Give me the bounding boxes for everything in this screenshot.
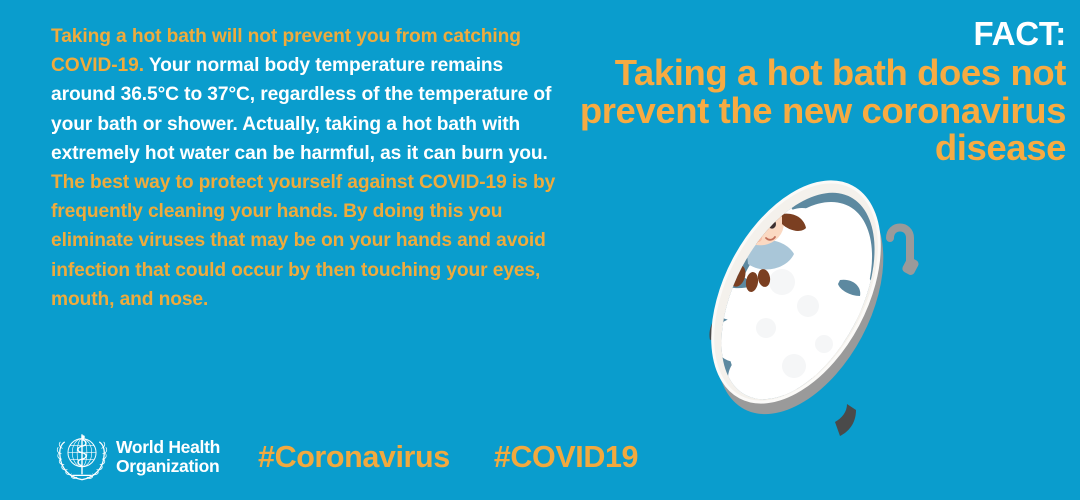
hashtag-covid19[interactable]: #COVID19 xyxy=(494,442,638,473)
girl-brow-left xyxy=(750,217,762,219)
body-paragraph-1: Taking a hot bath will not prevent you f… xyxy=(51,22,563,168)
who-emblem-icon xyxy=(55,430,109,484)
hashtag-group: #Coronavirus #COVID19 xyxy=(258,442,638,473)
footer-bar: World Health Organization #Coronavirus #… xyxy=(55,428,638,486)
who-logo: World Health Organization xyxy=(55,429,220,485)
headline-line-3: disease xyxy=(546,129,1066,167)
hashtag-coronavirus[interactable]: #Coronavirus xyxy=(258,442,450,473)
bathtub-leg-rear xyxy=(835,404,856,436)
girl-in-bathtub-illustration xyxy=(690,178,990,458)
fact-label: FACT: xyxy=(546,17,1066,50)
who-wordmark-line-1: World Health xyxy=(116,438,220,458)
headline-line-1: Taking a hot bath does not xyxy=(546,54,1066,92)
body-copy-block: Taking a hot bath will not prevent you f… xyxy=(51,22,563,314)
who-wordmark-line-2: Organization xyxy=(116,457,220,477)
headline-line-2: prevent the new coronavirus xyxy=(546,92,1066,130)
body-paragraph-2: The best way to protect yourself against… xyxy=(51,168,563,314)
headline-block: FACT: Taking a hot bath does not prevent… xyxy=(546,17,1066,167)
rod-of-asclepius-icon xyxy=(78,434,86,474)
faucet-icon xyxy=(890,228,920,277)
girl-braid-left xyxy=(715,230,734,267)
who-wordmark: World Health Organization xyxy=(116,438,220,477)
who-fact-poster: Taking a hot bath will not prevent you f… xyxy=(0,0,1080,500)
